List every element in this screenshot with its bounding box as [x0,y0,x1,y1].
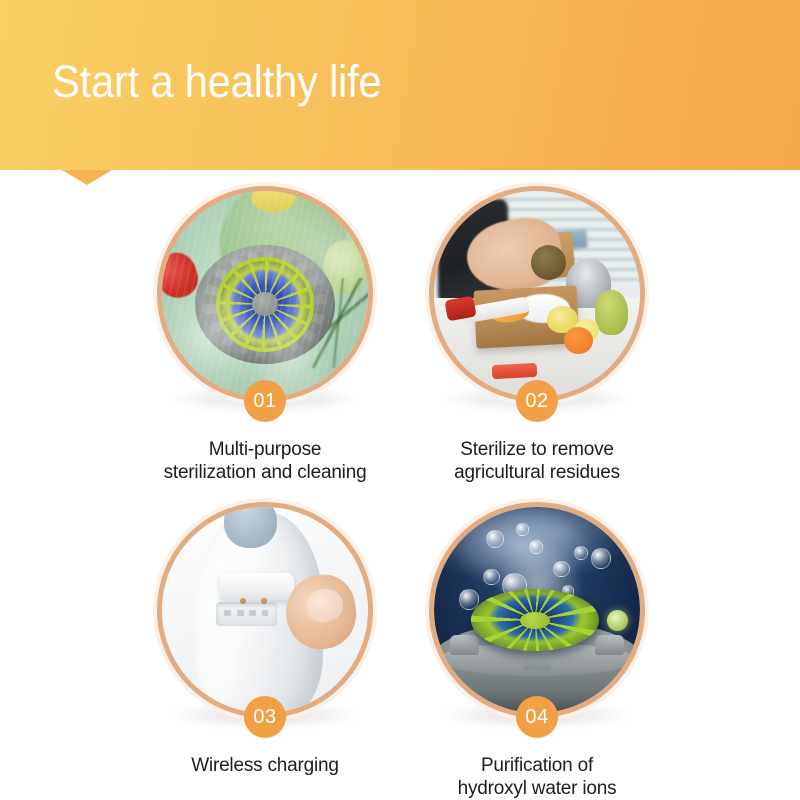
water-highlights [162,191,368,397]
feature-number-badge: 03 [244,696,286,738]
image-clip [162,507,368,713]
pin [237,610,244,617]
indicator-led [607,610,628,631]
scene-kitchen-prep [434,191,640,397]
base-tab [595,635,624,656]
sterilizer-rotor [471,589,599,651]
caption-line-2: agricultural residues [392,461,682,484]
feature-grid: 01 Multi-purpose sterilization and clean… [0,186,800,800]
image-clip [434,191,640,397]
feature-caption-02: Sterilize to remove agricultural residue… [392,438,682,484]
kiwi-shape [531,245,566,280]
feature-image-03: 03 [157,502,373,718]
scene-underwater-purification [434,507,640,713]
image-clip [162,191,368,397]
image-ring-border [429,186,645,402]
feature-caption-01: Multi-purpose sterilization and cleaning [120,438,410,484]
base-tab [523,649,552,670]
orange-shape [564,327,593,354]
red-utensil-shape [491,363,537,380]
feature-number-badge: 01 [244,380,286,422]
feature-number-badge: 02 [516,380,558,422]
feature-number-badge: 04 [516,696,558,738]
image-ring-border [157,186,373,402]
caption-line-1: Sterilize to remove [460,439,614,460]
pin [262,610,269,617]
image-clip [434,507,640,713]
feature-card-01: 01 Multi-purpose sterilization and clean… [120,186,410,484]
image-ring-border [429,502,645,718]
feature-card-02: 02 Sterilize to remove agricultural resi… [392,186,682,484]
feature-card-03: 03 Wireless charging [120,502,410,777]
bubble [516,523,528,535]
pin [249,610,256,617]
pin [224,610,231,617]
banner-notch-arrow [62,170,112,185]
feature-card-04: 04 Purification of hydroxyl water ions [392,502,682,800]
pear-shape [595,290,628,335]
page-title: Start a healthy life [52,54,381,110]
feature-image-04: 04 [429,502,645,718]
caption-line-2: hydroxyl water ions [392,777,682,800]
caption-line-1: Wireless charging [191,755,339,776]
caption-line-1: Multi-purpose [209,439,322,460]
bubble [591,548,612,569]
feature-image-01: 01 [157,186,373,402]
scene-wireless-charging [162,507,368,713]
image-ring-border [157,502,373,718]
caption-line-1: Purification of [481,755,593,776]
caption-line-2: sterilization and cleaning [120,461,410,484]
contact-dot [261,598,267,604]
header-banner: Start a healthy life [0,0,800,170]
scene-wash-basin [162,191,368,397]
feature-caption-03: Wireless charging [120,754,410,777]
magnetic-connector-shape [220,573,294,600]
charging-pins [222,608,271,618]
contact-dot [240,598,246,604]
feature-caption-04: Purification of hydroxyl water ions [392,754,682,800]
feature-image-02: 02 [429,186,645,402]
product-feature-infographic: Start a healthy life [0,0,800,800]
